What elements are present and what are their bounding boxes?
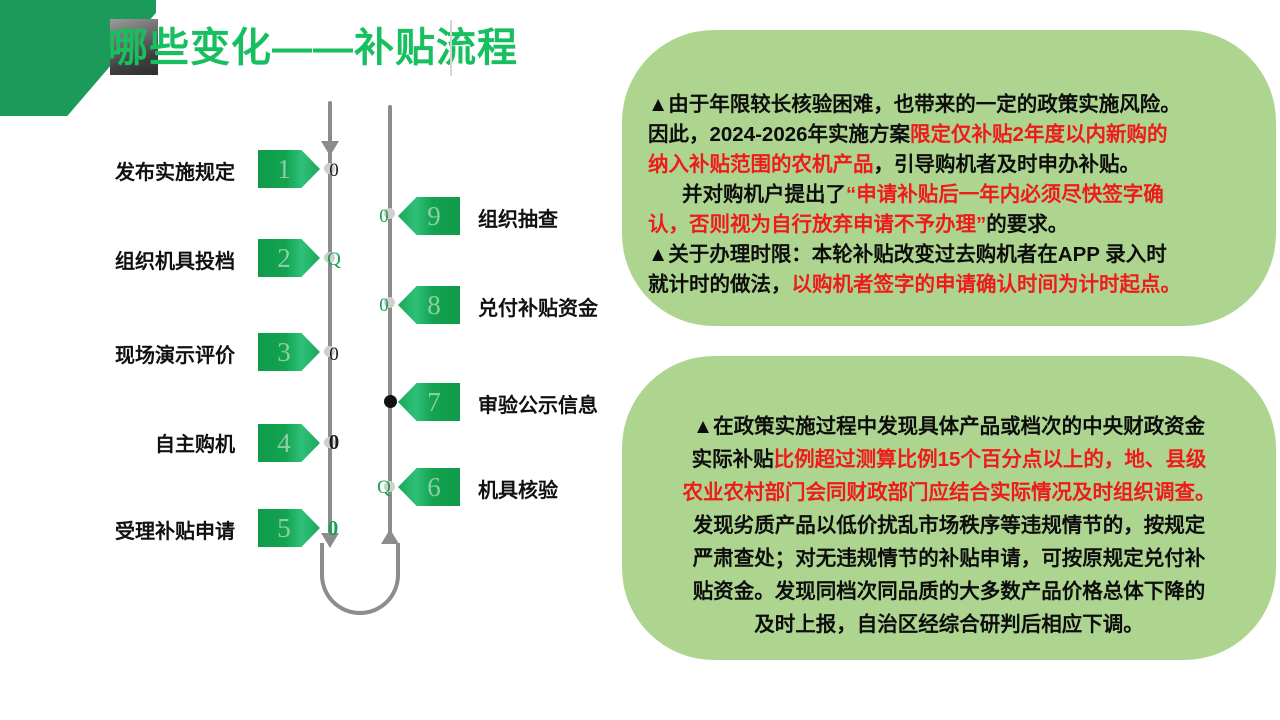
note-panel-top: ▲由于年限较长核验困难，也带来的一定的政策实施风险。 因此，2024-2026年… [622, 30, 1276, 326]
sidebar-item-label-6: 机具核验 [478, 479, 558, 503]
note-text: 实际补贴 [692, 448, 774, 471]
note-text: ▲由于年限较长核验困难，也带来的一定的政策实施风险。 [648, 93, 1181, 116]
note-panel-bottom-text: ▲在政策实施过程中发现具体产品或档次的中央财政资金 实际补贴比例超过测算比例15… [622, 410, 1276, 641]
subsidy-flow-diagram: 发布实施规定 1 0 组织机具投档 2 Q 现场演示评价 3 0 自主购机 4 … [0, 95, 620, 635]
page-title: 哪些变化——补贴流程 [108, 24, 518, 72]
flow-loop-connector [320, 543, 400, 615]
note-text: 因此，2024-2026年实施方案 [648, 123, 910, 146]
flow-step-number-7: 7 [398, 383, 460, 421]
note-line: 纳入补贴范围的农机产品，引导购机者及时申办补贴。 [648, 150, 1250, 180]
note-line: 及时上报，自治区经综合研判后相应下调。 [648, 608, 1250, 641]
flow-step-chevron-9[interactable]: 9 [398, 197, 460, 235]
right-flow-axis [388, 105, 392, 537]
note-text: ▲关于办理时限：本轮补贴改变过去购机者在APP 录入时 [648, 243, 1167, 266]
note-line: ▲由于年限较长核验困难，也带来的一定的政策实施风险。 [648, 90, 1250, 120]
flow-step-chevron-8[interactable]: 8 [398, 286, 460, 324]
flow-step-number-5: 5 [258, 509, 320, 547]
sidebar-item-label-7: 审验公示信息 [478, 394, 598, 418]
flow-step-number-9: 9 [398, 197, 460, 235]
note-line: 认，否则视为自行放弃申请不予办理”的要求。 [648, 210, 1250, 240]
flow-step-chevron-7[interactable]: 7 [398, 383, 460, 421]
note-text-red: 农业农村部门会同财政部门应结合实际情况及时组织调查。 [683, 481, 1216, 504]
flow-step-chevron-3[interactable]: 3 [258, 333, 320, 371]
slide-canvas: 哪些变化——补贴流程 发布实施规定 1 0 组织机具投档 2 Q 现场演示评价 … [0, 0, 1280, 720]
note-text: 并对购机户提出了 [682, 183, 846, 206]
flow-marker-7-dot-icon [384, 395, 397, 408]
flow-step-chevron-5[interactable]: 5 [258, 509, 320, 547]
note-text: 贴资金。发现同档次同品质的大多数产品价格总体下降的 [693, 580, 1206, 603]
flow-step-number-4: 4 [258, 424, 320, 462]
note-line: 就计时的做法，以购机者签字的申请确认时间为计时起点。 [648, 270, 1250, 300]
flow-marker-3: 0 [325, 345, 343, 364]
note-line: 并对购机户提出了“申请补贴后一年内必须尽快签字确 [648, 180, 1250, 210]
flow-marker-8: 0 [375, 296, 393, 315]
flow-marker-9: 0 [375, 207, 393, 226]
note-text: 就计时的做法， [648, 273, 792, 296]
note-line: ▲关于办理时限：本轮补贴改变过去购机者在APP 录入时 [648, 240, 1250, 270]
sidebar-item-label-4: 自主购机 [155, 433, 275, 457]
note-text: ▲在政策实施过程中发现具体产品或档次的中央财政资金 [693, 415, 1205, 438]
right-axis-up-arrow-icon [381, 529, 399, 544]
left-axis-top-arrow-icon [321, 141, 339, 156]
flow-step-number-8: 8 [398, 286, 460, 324]
flow-step-chevron-2[interactable]: 2 [258, 239, 320, 277]
sidebar-item-label-2: 组织机具投档 [115, 250, 275, 274]
note-text-red: 比例超过测算比例15个百分点以上的，地、县级 [774, 448, 1207, 471]
flow-step-chevron-6[interactable]: 6 [398, 468, 460, 506]
note-line: 农业农村部门会同财政部门应结合实际情况及时组织调查。 [648, 476, 1250, 509]
note-text-red: 纳入补贴范围的农机产品 [648, 153, 874, 176]
note-line: 贴资金。发现同档次同品质的大多数产品价格总体下降的 [648, 575, 1250, 608]
flow-step-number-3: 3 [258, 333, 320, 371]
sidebar-item-label-3: 现场演示评价 [115, 344, 275, 368]
note-text-red: 认，否则视为自行放弃申请不予办理” [648, 213, 986, 236]
note-text-red: 限定仅补贴2年度以内新购的 [910, 123, 1167, 146]
title-divider [450, 20, 452, 76]
note-text: 严肃查处；对无违规情节的补贴申请，可按原规定兑付补 [693, 547, 1206, 570]
flow-step-number-2: 2 [258, 239, 320, 277]
flow-marker-1: 0 [325, 161, 343, 180]
flow-step-chevron-4[interactable]: 4 [258, 424, 320, 462]
flow-step-chevron-1[interactable]: 1 [258, 150, 320, 188]
note-text: ，引导购机者及时申办补贴。 [874, 153, 1141, 176]
note-text: 发现劣质产品以低价扰乱市场秩序等违规情节的，按规定 [693, 514, 1206, 537]
note-text-red: 以购机者签字的申请确认时间为计时起点。 [792, 273, 1182, 296]
flow-marker-5: 0 [324, 519, 342, 538]
flow-marker-6: Q [375, 478, 393, 497]
sidebar-item-label-5: 受理补贴申请 [115, 520, 275, 544]
sidebar-item-label-1: 发布实施规定 [115, 161, 275, 185]
note-line: 因此，2024-2026年实施方案限定仅补贴2年度以内新购的 [648, 120, 1250, 150]
note-text-red: “申请补贴后一年内必须尽快签字确 [846, 183, 1164, 206]
flow-marker-2: Q [325, 250, 343, 269]
sidebar-item-label-8: 兑付补贴资金 [478, 297, 598, 321]
flow-step-number-6: 6 [398, 468, 460, 506]
note-panel-bottom: ▲在政策实施过程中发现具体产品或档次的中央财政资金 实际补贴比例超过测算比例15… [622, 356, 1276, 660]
sidebar-item-label-9: 组织抽查 [478, 208, 558, 232]
note-panel-top-text: ▲由于年限较长核验困难，也带来的一定的政策实施风险。 因此，2024-2026年… [622, 90, 1276, 300]
flow-step-number-1: 1 [258, 150, 320, 188]
note-line: ▲在政策实施过程中发现具体产品或档次的中央财政资金 [648, 410, 1250, 443]
note-line: 严肃查处；对无违规情节的补贴申请，可按原规定兑付补 [648, 542, 1250, 575]
flow-marker-4: 0 [325, 433, 343, 452]
note-line: 发现劣质产品以低价扰乱市场秩序等违规情节的，按规定 [648, 509, 1250, 542]
note-line: 实际补贴比例超过测算比例15个百分点以上的，地、县级 [648, 443, 1250, 476]
note-text: 及时上报，自治区经综合研判后相应下调。 [754, 613, 1144, 636]
note-text: 的要求。 [986, 213, 1068, 236]
